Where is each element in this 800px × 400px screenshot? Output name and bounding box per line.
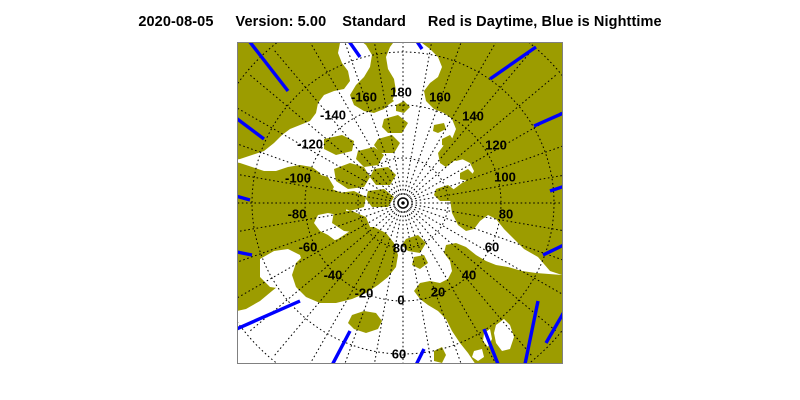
- map-plot-area: 180160140120100806040200-20-40-60-80-100…: [237, 42, 563, 364]
- title-legend: Red is Daytime, Blue is Nighttime: [428, 14, 662, 30]
- polar-map: [238, 43, 562, 363]
- title-version: Version: 5.00: [236, 14, 327, 30]
- figure-canvas: 2020-08-05Version: 5.00StandardRed is Da…: [0, 0, 800, 400]
- title-date: 2020-08-05: [138, 14, 213, 30]
- figure-title: 2020-08-05Version: 5.00StandardRed is Da…: [0, 14, 800, 30]
- title-mode: Standard: [342, 14, 406, 30]
